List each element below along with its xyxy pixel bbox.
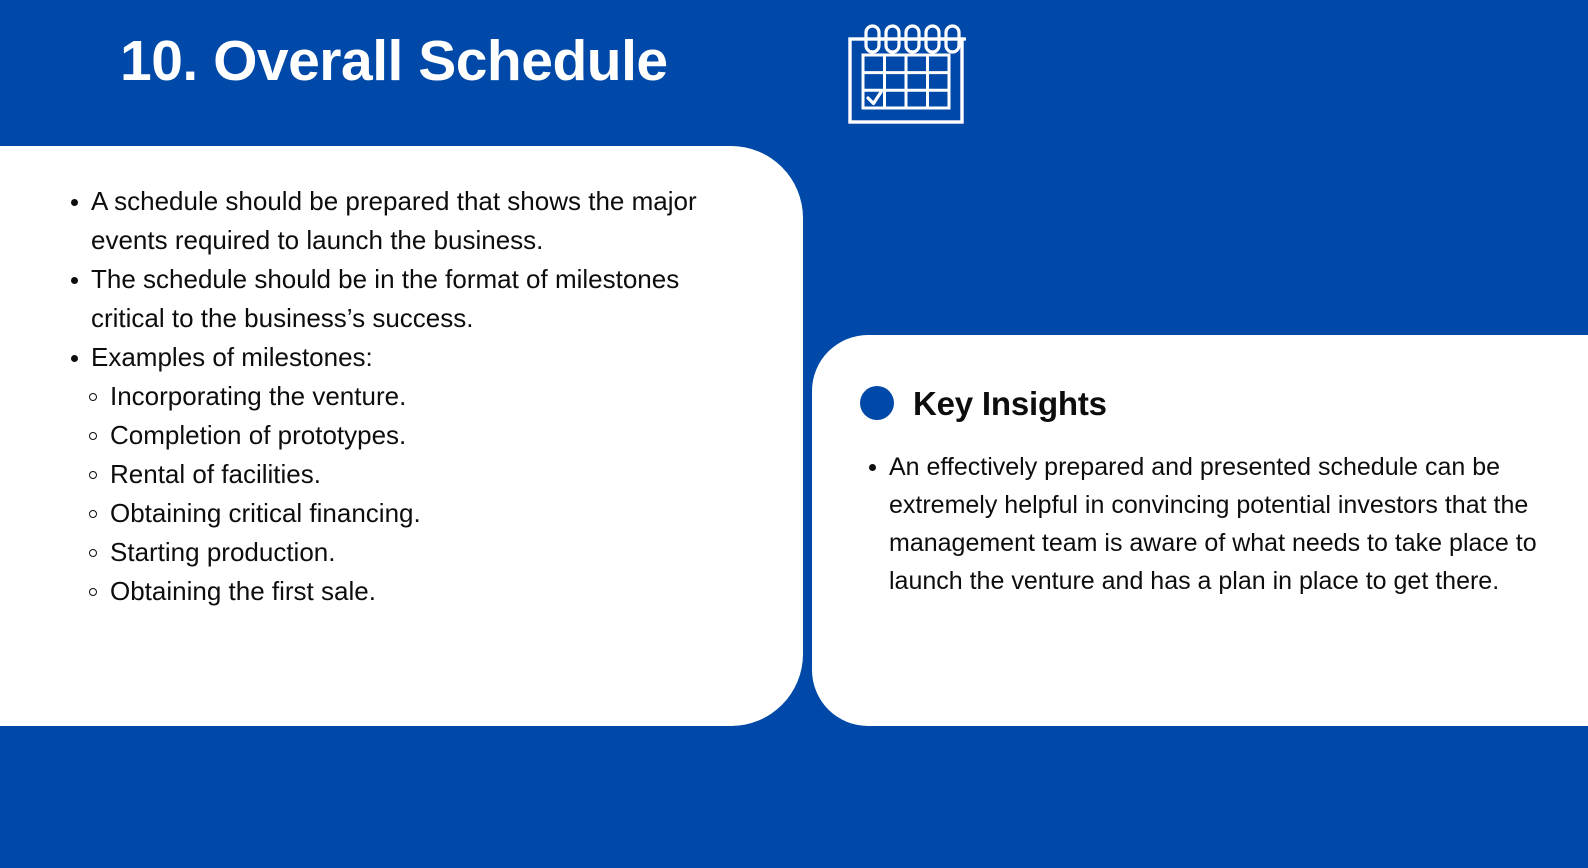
main-bullet-list: A schedule should be prepared that shows… xyxy=(60,182,760,377)
key-insights-list: An effectively prepared and presented sc… xyxy=(860,448,1560,600)
list-item: Completion of prototypes. xyxy=(60,416,760,455)
list-item: Rental of facilities. xyxy=(60,455,760,494)
list-item: A schedule should be prepared that shows… xyxy=(60,182,760,260)
calendar-icon xyxy=(845,24,967,129)
key-insights-card: Key Insights An effectively prepared and… xyxy=(812,335,1588,726)
bullet-dot-icon xyxy=(860,386,894,420)
main-content-card: A schedule should be prepared that shows… xyxy=(0,146,803,726)
main-content-body: A schedule should be prepared that shows… xyxy=(60,182,760,611)
list-item: Incorporating the venture. xyxy=(60,377,760,416)
list-item: Obtaining the first sale. xyxy=(60,572,760,611)
slide-root: 10. Overall Schedule xyxy=(0,0,1588,868)
list-item: Starting production. xyxy=(60,533,760,572)
main-sub-bullet-list: Incorporating the venture. Completion of… xyxy=(60,377,760,611)
slide-header: 10. Overall Schedule xyxy=(0,0,1588,146)
key-insights-body: Key Insights An effectively prepared and… xyxy=(860,386,1560,600)
key-insights-header: Key Insights xyxy=(860,386,1560,420)
list-item: Obtaining critical financing. xyxy=(60,494,760,533)
list-item: An effectively prepared and presented sc… xyxy=(860,448,1560,600)
list-item: Examples of milestones: xyxy=(60,338,760,377)
page-title: 10. Overall Schedule xyxy=(120,33,668,90)
key-insights-title: Key Insights xyxy=(913,387,1107,420)
list-item: The schedule should be in the format of … xyxy=(60,260,760,338)
